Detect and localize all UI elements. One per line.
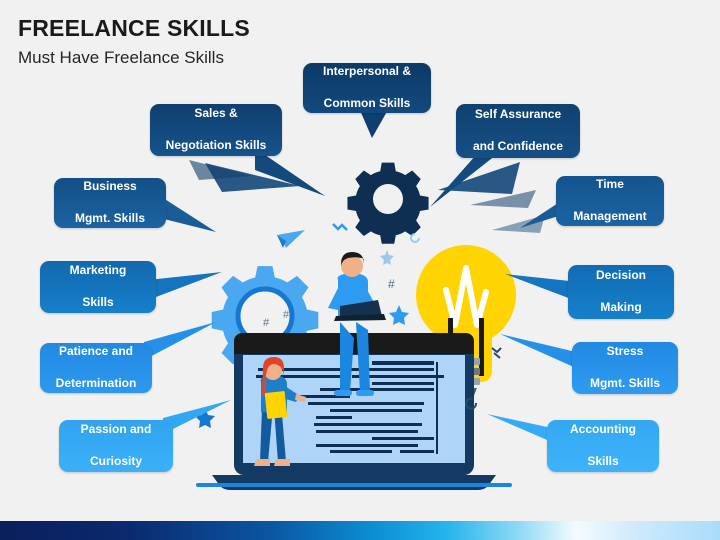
callout-line-2: and Confidence [466, 139, 570, 155]
laptop-device [196, 333, 512, 490]
callout-line-2: Mgmt. Skills [64, 211, 156, 227]
callout-line-2: Making [578, 300, 664, 316]
callout-line-1: Time [566, 177, 654, 193]
slide-canvas: FREELANCE SKILLS Must Have Freelance Ski… [0, 0, 720, 540]
callout-line-1: Patience and [50, 344, 142, 360]
bottom-gradient-bar [0, 521, 720, 540]
svg-text:#: # [263, 317, 270, 329]
callout-line-1: Business [64, 179, 156, 195]
dark-gear-icon [347, 163, 428, 244]
doodle-icons: # # [195, 224, 501, 428]
callout-line-2: Common Skills [313, 96, 421, 112]
callout-line-2: Determination [50, 376, 142, 392]
callout-patience-determination[interactable]: Patience and Determination [40, 343, 152, 393]
callout-stress-mgmt-skills[interactable]: Stress Mgmt. Skills [572, 342, 678, 394]
callout-tail-stress [500, 334, 580, 370]
callout-sales-negotiation-skills[interactable]: Sales & Negotiation Skills [150, 104, 282, 156]
callout-tail-patience [144, 322, 222, 360]
callout-line-2: Skills [50, 295, 146, 311]
svg-text:#: # [388, 277, 395, 291]
callout-interpersonal-common-skills[interactable]: Interpersonal & Common Skills [303, 63, 431, 113]
callout-accounting-skills[interactable]: Accounting Skills [547, 420, 659, 472]
callout-line-1: Stress [582, 344, 668, 360]
callout-self-assurance-confidence[interactable]: Self Assurance and Confidence [456, 104, 580, 158]
callout-line-1: Self Assurance [466, 107, 570, 123]
callout-tail-business [160, 196, 224, 238]
callout-line-2: Skills [557, 454, 649, 470]
callout-line-1: Sales & [160, 106, 272, 122]
callout-line-2: Curiosity [69, 454, 163, 470]
person-with-clipboard [254, 357, 306, 466]
callout-tail-self-assurance [430, 155, 500, 211]
callout-tail-passion [163, 400, 235, 436]
callout-line-1: Passion and [69, 422, 163, 438]
page-subtitle: Must Have Freelance Skills [18, 48, 224, 68]
screen-text-lines [256, 361, 444, 454]
callout-line-1: Interpersonal & [313, 64, 421, 80]
callout-tail-marketing [148, 268, 228, 304]
callout-line-1: Marketing [50, 263, 146, 279]
callout-time-management[interactable]: Time Management [556, 176, 664, 226]
callout-line-2: Negotiation Skills [160, 138, 272, 154]
lightbulb-icon [416, 245, 516, 398]
callout-business-mgmt-skills[interactable]: Business Mgmt. Skills [54, 178, 166, 228]
page-title: FREELANCE SKILLS [18, 15, 250, 42]
person-with-laptop [328, 252, 386, 396]
callout-line-2: Management [566, 209, 654, 225]
callout-line-1: Accounting [557, 422, 649, 438]
callout-decision-making[interactable]: Decision Making [568, 265, 674, 319]
callout-line-1: Decision [578, 268, 664, 284]
callout-line-2: Mgmt. Skills [582, 376, 668, 392]
svg-text:#: # [283, 309, 290, 321]
callout-marketing-skills[interactable]: Marketing Skills [40, 261, 156, 313]
callout-passion-curiosity[interactable]: Passion and Curiosity [59, 420, 173, 472]
